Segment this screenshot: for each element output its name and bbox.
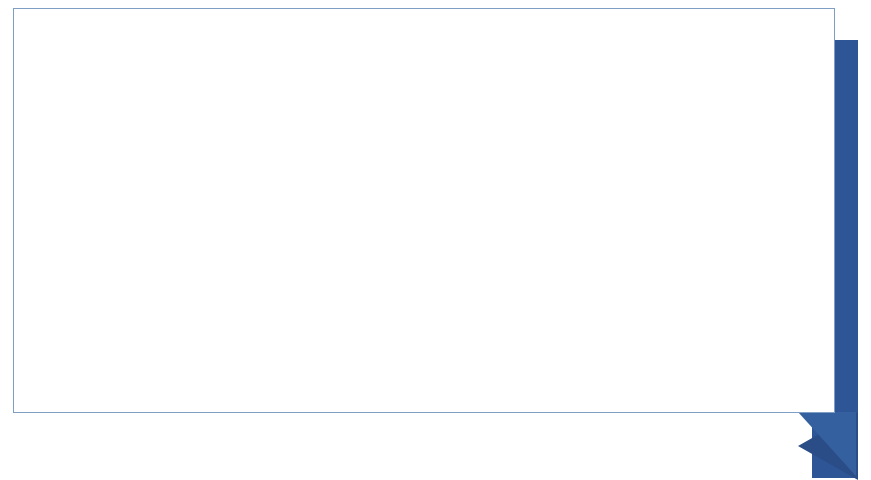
blue-ribbon-tip xyxy=(798,412,856,476)
slide-canvas: High blood sugar levels complaints xyxy=(0,0,871,478)
content-card xyxy=(13,8,835,413)
